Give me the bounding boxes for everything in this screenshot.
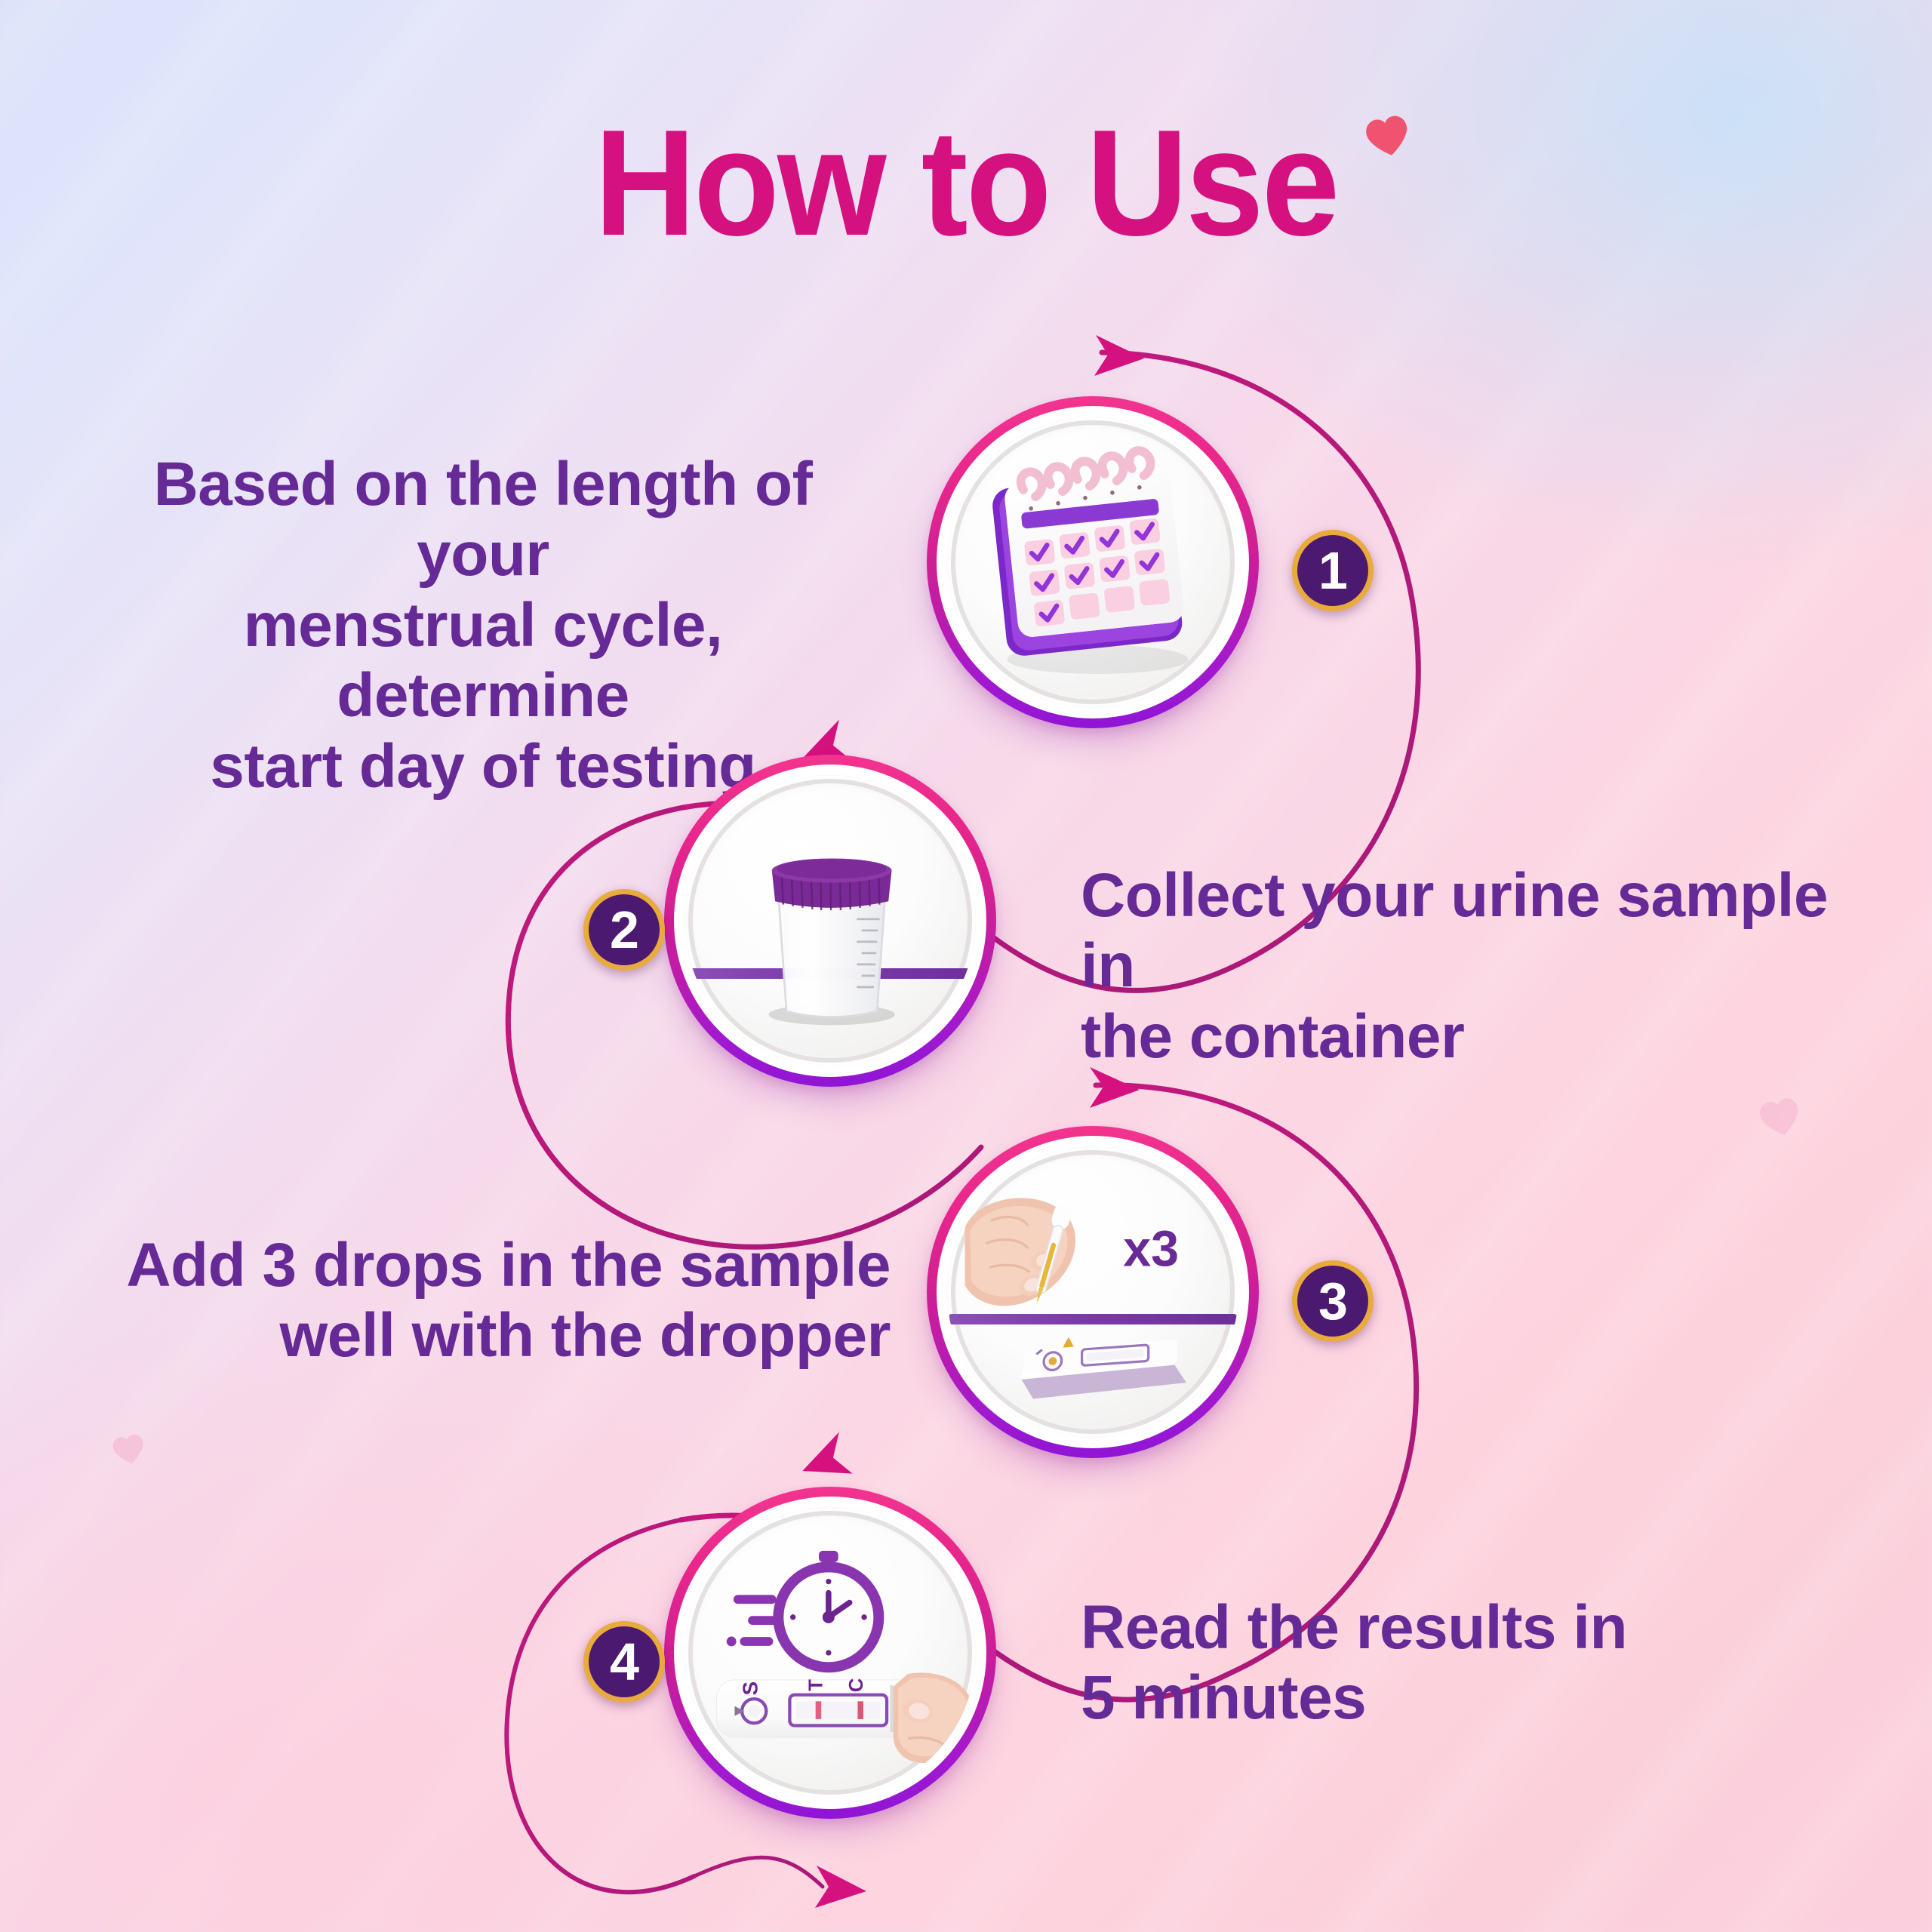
step-2-caption: Collect your urine sample in the contain… <box>1081 860 1866 1072</box>
step-1-caption: Based on the length of your menstrual cy… <box>91 449 875 801</box>
step-2-number: 2 <box>610 903 638 956</box>
dropper-cassette-icon: x3 <box>947 1146 1238 1438</box>
step-4-plate: S T C <box>685 1507 976 1798</box>
heart-accent-title <box>1360 109 1416 165</box>
step-2-circle <box>664 755 996 1087</box>
calendar-icon <box>947 417 1238 708</box>
step-4-number: 4 <box>610 1635 638 1688</box>
step-1-number: 1 <box>1318 544 1347 597</box>
specimen-container-icon <box>685 775 976 1066</box>
step-3-badge: 3 <box>1292 1260 1374 1342</box>
page-title: How to Use <box>68 108 1865 259</box>
cassette-mark-s: S <box>739 1681 762 1696</box>
step-2-badge: 2 <box>583 889 665 971</box>
x3-label: x3 <box>1123 1222 1179 1278</box>
heart-faded-right <box>1755 1092 1807 1144</box>
stopwatch-cassette-icon: S T C <box>685 1507 976 1798</box>
step-4-circle: S T C <box>664 1487 996 1819</box>
step-1-circle <box>927 396 1259 728</box>
step-4-badge: 4 <box>583 1621 665 1703</box>
cassette-mark-t: T <box>805 1679 826 1691</box>
step-1-badge: 1 <box>1292 530 1374 611</box>
heart-faded-left <box>109 1429 150 1471</box>
step-4-caption: Read the results in 5 minutes <box>1081 1592 1835 1734</box>
step-1-plate <box>947 417 1238 708</box>
step-3-number: 3 <box>1318 1275 1347 1327</box>
cassette-mark-c: C <box>846 1678 867 1693</box>
step-3-plate: x3 <box>947 1146 1238 1438</box>
step-2-plate <box>685 775 976 1066</box>
step-3-circle: x3 <box>927 1126 1259 1458</box>
step-3-caption: Add 3 drops in the sample well with the … <box>113 1230 891 1371</box>
